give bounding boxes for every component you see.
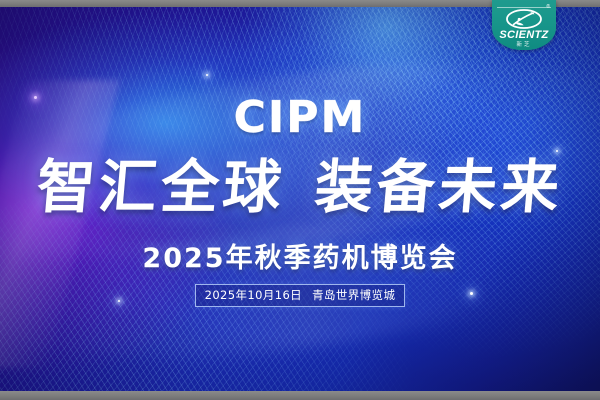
event-subtitle: 2025年秋季药机博览会 bbox=[0, 236, 600, 275]
logo-divider bbox=[497, 7, 551, 8]
cipm-logo-text: CIPM bbox=[0, 96, 600, 140]
headline-slogan: 智汇全球 装备未来 bbox=[0, 156, 600, 219]
headline-part-2: 装备未来 bbox=[312, 156, 565, 219]
registered-trademark-icon: ® bbox=[546, 5, 550, 10]
scientz-logo-badge[interactable]: ® SCIENTZ 新芝 bbox=[492, 0, 556, 50]
cipm-expo-banner: ® SCIENTZ 新芝 CIPM 智汇全球 装备未来 2025年秋季药机博览会… bbox=[0, 0, 600, 400]
banner-content: CIPM 智汇全球 装备未来 2025年秋季药机博览会 2025年10月16日 … bbox=[0, 0, 600, 400]
event-venue: 青岛世界博览城 bbox=[312, 287, 395, 303]
scientz-emblem-icon bbox=[506, 9, 542, 29]
event-date: 2025年10月16日 bbox=[205, 287, 302, 303]
bottom-edge-bar bbox=[0, 391, 600, 400]
scientz-chinese-name: 新芝 bbox=[492, 40, 556, 48]
date-venue-bar-wrap: 2025年10月16日 青岛世界博览城 bbox=[0, 284, 600, 307]
headline-part-1: 智汇全球 bbox=[34, 156, 287, 219]
date-venue-bar: 2025年10月16日 青岛世界博览城 bbox=[195, 284, 406, 307]
